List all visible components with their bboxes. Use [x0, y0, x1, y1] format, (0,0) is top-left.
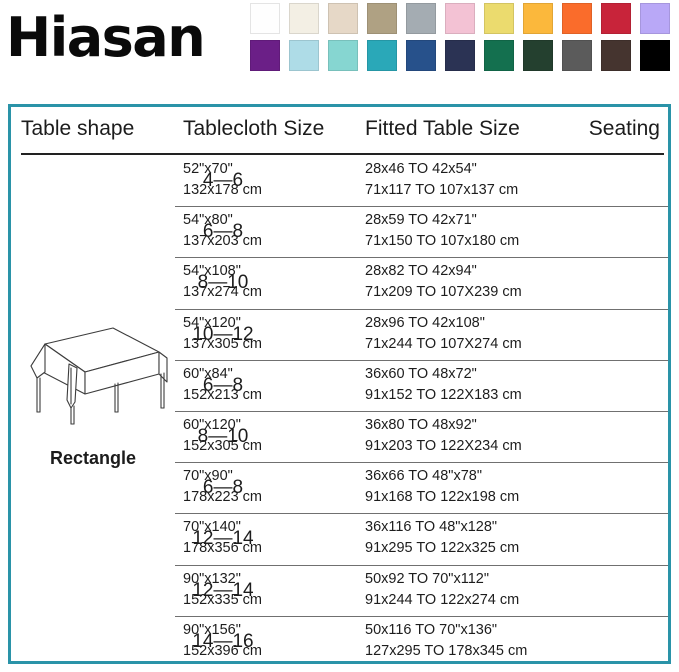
color-swatch-beige[interactable]: [328, 3, 358, 34]
cell-tablecloth-size: 54"x80"137x203 cm: [183, 210, 262, 252]
fitted-table-size-inches: 28x59 TO 42x71": [365, 212, 477, 228]
swatch-row-1: [250, 3, 676, 34]
cell-fitted-table-size: 36x80 TO 48x92"91x203 TO 122X234 cm: [365, 415, 522, 457]
fitted-table-size-cm: 91x168 TO 122x198 cm: [365, 487, 519, 508]
color-swatch-dark-green[interactable]: [523, 40, 553, 71]
fitted-table-size-cm: 91x244 TO 122x274 cm: [365, 590, 519, 611]
table-row: 90"x132"152x335 cm50x92 TO 70"x112"91x24…: [175, 566, 668, 617]
cell-fitted-table-size: 28x59 TO 42x71"71x150 TO 107x180 cm: [365, 210, 519, 252]
tablecloth-size-inches: 90"x156": [183, 622, 241, 638]
color-swatch-aqua[interactable]: [328, 40, 358, 71]
tablecloth-size-cm: 137x274 cm: [183, 282, 262, 303]
tablecloth-size-cm: 137x305 cm: [183, 334, 262, 355]
tablecloth-size-inches: 54"x108": [183, 263, 241, 279]
column-header-fitted-table-size: Fitted Table Size: [365, 117, 520, 141]
fitted-table-size-inches: 28x82 TO 42x94": [365, 263, 477, 279]
table-row: 70"x140"178x356 cm36x116 TO 48"x128"91x2…: [175, 514, 668, 565]
color-swatch-emerald[interactable]: [484, 40, 514, 71]
color-swatch-dark-brown[interactable]: [601, 40, 631, 71]
table-shape-label: Rectangle: [11, 448, 175, 469]
table-body: Rectangle 52"x70"132x178 cm28x46 TO 42x5…: [11, 156, 668, 661]
cell-tablecloth-size: 52"x70"132x178 cm: [183, 159, 262, 201]
tablecloth-size-cm: 152x335 cm: [183, 590, 262, 611]
column-header-tablecloth-size: Tablecloth Size: [183, 117, 324, 141]
cell-tablecloth-size: 60"x120"152x305 cm: [183, 415, 262, 457]
cell-fitted-table-size: 36x60 TO 48x72"91x152 TO 122X183 cm: [365, 364, 522, 406]
cell-fitted-table-size: 28x82 TO 42x94"71x209 TO 107X239 cm: [365, 261, 522, 303]
tablecloth-size-cm: 152x213 cm: [183, 385, 262, 406]
color-swatch-ivory[interactable]: [289, 3, 319, 34]
tablecloth-size-inches: 70"x140": [183, 519, 241, 535]
table-row: 54"x108"137x274 cm28x82 TO 42x94"71x209 …: [175, 258, 668, 309]
tablecloth-size-inches: 52"x70": [183, 161, 233, 177]
table-header-row: Table shape Tablecloth Size Fitted Table…: [11, 107, 668, 155]
color-swatch-lavender[interactable]: [640, 3, 670, 34]
rectangle-table-illustration-icon: [17, 316, 169, 426]
fitted-table-size-inches: 28x46 TO 42x54": [365, 161, 477, 177]
tablecloth-size-inches: 70"x90": [183, 468, 233, 484]
tablecloth-size-cm: 132x178 cm: [183, 180, 262, 201]
color-swatch-teal[interactable]: [367, 40, 397, 71]
fitted-table-size-cm: 127x295 TO 178x345 cm: [365, 641, 527, 662]
tablecloth-size-cm: 178x223 cm: [183, 487, 262, 508]
fitted-table-size-inches: 50x116 TO 70"x136": [365, 622, 497, 638]
cell-tablecloth-size: 90"x156"152x396 cm: [183, 620, 262, 662]
fitted-table-size-inches: 36x66 TO 48"x78": [365, 468, 482, 484]
header-divider: [21, 153, 664, 155]
tablecloth-size-cm: 178x356 cm: [183, 538, 262, 559]
fitted-table-size-inches: 36x80 TO 48x92": [365, 417, 477, 433]
tablecloth-size-inches: 54"x80": [183, 212, 233, 228]
brand-logo: Hiasan: [6, 8, 204, 68]
table-row: 60"x84"152x213 cm36x60 TO 48x72"91x152 T…: [175, 361, 668, 412]
color-swatch-denim-blue[interactable]: [406, 40, 436, 71]
size-rows-column: 52"x70"132x178 cm28x46 TO 42x54"71x117 T…: [175, 156, 668, 661]
page-header: Hiasan: [0, 0, 679, 96]
swatch-row-2: [250, 40, 676, 71]
cell-fitted-table-size: 28x96 TO 42x108"71x244 TO 107X274 cm: [365, 313, 522, 355]
cell-fitted-table-size: 36x116 TO 48"x128"91x295 TO 122x325 cm: [365, 517, 519, 559]
fitted-table-size-cm: 71x117 TO 107x137 cm: [365, 180, 518, 201]
table-shape-column: Rectangle: [11, 156, 175, 661]
color-swatch-gold[interactable]: [523, 3, 553, 34]
fitted-table-size-inches: 50x92 TO 70"x112": [365, 571, 489, 587]
cell-tablecloth-size: 54"x120"137x305 cm: [183, 313, 262, 355]
column-header-table-shape: Table shape: [21, 117, 134, 141]
fitted-table-size-cm: 71x209 TO 107X239 cm: [365, 282, 522, 303]
fitted-table-size-cm: 91x152 TO 122X183 cm: [365, 385, 522, 406]
tablecloth-size-inches: 54"x120": [183, 315, 241, 331]
table-row: 54"x80"137x203 cm28x59 TO 42x71"71x150 T…: [175, 207, 668, 258]
color-swatch-orange[interactable]: [562, 3, 592, 34]
color-swatch-panel: [250, 3, 676, 77]
cell-tablecloth-size: 54"x108"137x274 cm: [183, 261, 262, 303]
cell-fitted-table-size: 50x116 TO 70"x136"127x295 TO 178x345 cm: [365, 620, 527, 662]
size-chart-card: Table shape Tablecloth Size Fitted Table…: [8, 104, 671, 664]
table-row: 90"x156"152x396 cm50x116 TO 70"x136"127x…: [175, 617, 668, 668]
table-row: 52"x70"132x178 cm28x46 TO 42x54"71x117 T…: [175, 156, 668, 207]
color-swatch-black[interactable]: [640, 40, 670, 71]
fitted-table-size-cm: 71x150 TO 107x180 cm: [365, 231, 519, 252]
tablecloth-size-inches: 60"x120": [183, 417, 241, 433]
tablecloth-size-cm: 152x396 cm: [183, 641, 262, 662]
color-swatch-pink[interactable]: [445, 3, 475, 34]
cell-tablecloth-size: 70"x90"178x223 cm: [183, 466, 262, 508]
fitted-table-size-inches: 36x116 TO 48"x128": [365, 519, 497, 535]
fitted-table-size-inches: 28x96 TO 42x108": [365, 315, 485, 331]
color-swatch-red[interactable]: [601, 3, 631, 34]
tablecloth-size-cm: 137x203 cm: [183, 231, 262, 252]
cell-tablecloth-size: 70"x140"178x356 cm: [183, 517, 262, 559]
color-swatch-light-blue[interactable]: [289, 40, 319, 71]
color-swatch-taupe[interactable]: [367, 3, 397, 34]
tablecloth-size-inches: 60"x84": [183, 366, 233, 382]
color-swatch-white[interactable]: [250, 3, 280, 34]
table-row: 70"x90"178x223 cm36x66 TO 48"x78"91x168 …: [175, 463, 668, 514]
fitted-table-size-cm: 91x295 TO 122x325 cm: [365, 538, 519, 559]
fitted-table-size-cm: 71x244 TO 107X274 cm: [365, 334, 522, 355]
cell-fitted-table-size: 28x46 TO 42x54"71x117 TO 107x137 cm: [365, 159, 518, 201]
cell-tablecloth-size: 60"x84"152x213 cm: [183, 364, 262, 406]
table-row: 60"x120"152x305 cm36x80 TO 48x92"91x203 …: [175, 412, 668, 463]
fitted-table-size-cm: 91x203 TO 122X234 cm: [365, 436, 522, 457]
column-header-seating: Seating: [589, 117, 660, 141]
color-swatch-light-yellow[interactable]: [484, 3, 514, 34]
color-swatch-navy[interactable]: [445, 40, 475, 71]
cell-fitted-table-size: 36x66 TO 48"x78"91x168 TO 122x198 cm: [365, 466, 519, 508]
cell-fitted-table-size: 50x92 TO 70"x112"91x244 TO 122x274 cm: [365, 569, 519, 611]
fitted-table-size-inches: 36x60 TO 48x72": [365, 366, 477, 382]
tablecloth-size-inches: 90"x132": [183, 571, 241, 587]
color-swatch-purple[interactable]: [250, 40, 280, 71]
cell-tablecloth-size: 90"x132"152x335 cm: [183, 569, 262, 611]
table-row: 54"x120"137x305 cm28x96 TO 42x108"71x244…: [175, 310, 668, 361]
tablecloth-size-cm: 152x305 cm: [183, 436, 262, 457]
color-swatch-gray[interactable]: [406, 3, 436, 34]
color-swatch-dark-gray[interactable]: [562, 40, 592, 71]
